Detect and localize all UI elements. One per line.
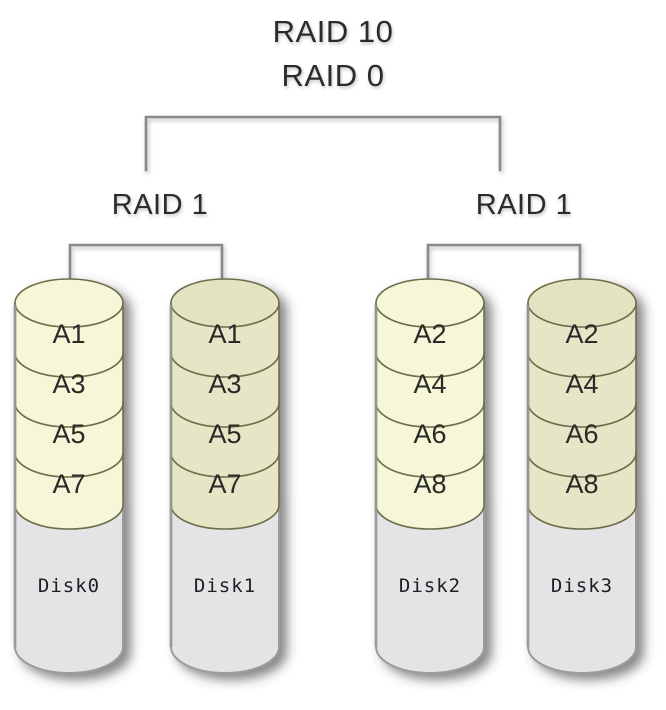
diagram-title-raid10: RAID 10: [0, 14, 666, 50]
group-label-raid1-left: RAID 1: [60, 189, 260, 222]
block-label: A6: [413, 419, 446, 449]
block-label: A8: [565, 469, 598, 499]
disk-graphic: A1 A3 A5 A7 Disk1: [169, 275, 293, 685]
block-label: A1: [208, 319, 241, 349]
block-label: A2: [413, 319, 446, 349]
block-label: A7: [52, 469, 85, 499]
block-label: A1: [52, 319, 85, 349]
diagram-title-raid0: RAID 0: [0, 58, 666, 94]
block-label: A7: [208, 469, 241, 499]
group-label-raid1-right: RAID 1: [424, 189, 624, 222]
disk-cylinder-3: A2 A4 A6 A8 Disk3: [526, 275, 636, 685]
block-label: A4: [565, 369, 598, 399]
block-label: A2: [565, 319, 598, 349]
disk-cylinder-2: A2 A4 A6 A8 Disk2: [374, 275, 484, 685]
block-label: A5: [208, 419, 241, 449]
disk-cylinder-1: A1 A3 A5 A7 Disk1: [169, 275, 279, 685]
disk-graphic: A1 A3 A5 A7 Disk0: [13, 275, 137, 685]
disk-name-label: Disk1: [194, 575, 256, 597]
block-label: A4: [413, 369, 446, 399]
raid10-diagram: RAID 10 RAID 0 RAID 1 RAID 1: [0, 0, 666, 710]
block-label: A3: [208, 369, 241, 399]
block-label: A3: [52, 369, 85, 399]
disk-cylinder-0: A1 A3 A5 A7 Disk0: [13, 275, 123, 685]
disk-name-label: Disk0: [38, 575, 100, 597]
disk-graphic: A2 A4 A6 A8 Disk2: [374, 275, 498, 685]
bracket-raid0: [146, 117, 500, 170]
block-label: A6: [565, 419, 598, 449]
disk-name-label: Disk2: [399, 575, 461, 597]
block-label: A8: [413, 469, 446, 499]
disk-graphic: A2 A4 A6 A8 Disk3: [526, 275, 650, 685]
block-label: A5: [52, 419, 85, 449]
disk-name-label: Disk3: [551, 575, 613, 597]
